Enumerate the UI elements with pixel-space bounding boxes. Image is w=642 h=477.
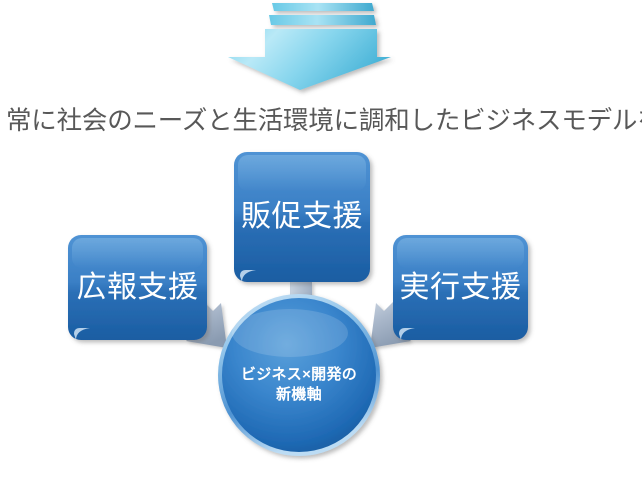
- headline-text: 常に社会のニーズと生活環境に調和したビジネスモデルを創造。: [6, 104, 638, 138]
- center-circle-label: ビジネス×開発の 新機軸: [219, 365, 379, 405]
- node-label-center: 販促支援: [241, 200, 363, 234]
- node-label-right: 実行支援: [400, 271, 522, 305]
- node-box-left[interactable]: 広報支援: [68, 235, 207, 340]
- node-label-left: 広報支援: [77, 271, 199, 305]
- center-circle-line1: ビジネス×開発の: [241, 366, 357, 383]
- node-box-center[interactable]: 販促支援: [234, 152, 370, 282]
- diagram-canvas: 常に社会のニーズと生活環境に調和したビジネスモデルを創造。 販促支援 広報支援 …: [0, 0, 642, 477]
- node-box-right[interactable]: 実行支援: [393, 235, 528, 340]
- top-arrow-graphic: [228, 3, 391, 90]
- center-circle-line2: 新機軸: [219, 385, 379, 405]
